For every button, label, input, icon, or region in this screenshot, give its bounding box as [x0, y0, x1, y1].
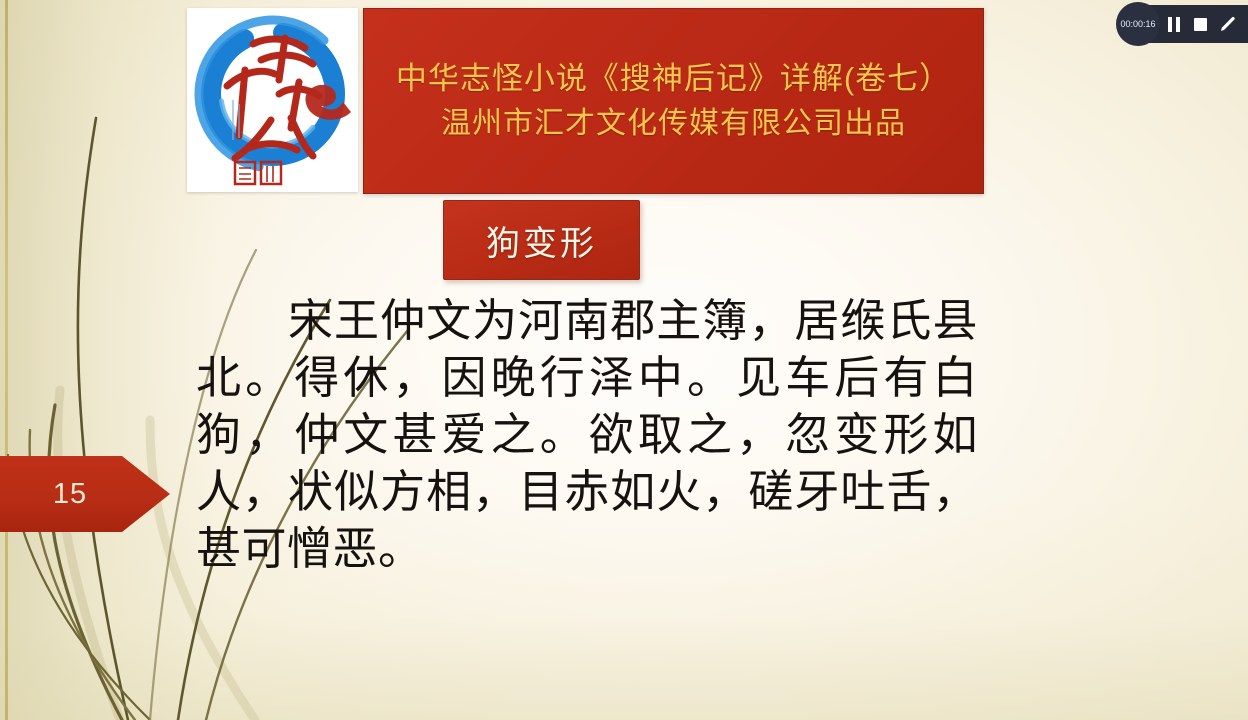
- presentation-slide: 中华志怪小说《搜神后记》详解(卷七） 温州市汇才文化传媒有限公司出品 狗变形 1…: [0, 0, 1248, 720]
- title-main: 中华志怪小说《搜神后记》详解(卷七）: [396, 60, 951, 99]
- page-number-banner: 15: [0, 456, 170, 532]
- pencil-icon[interactable]: [1220, 16, 1236, 32]
- section-subtitle-text: 狗变形: [486, 216, 597, 265]
- pause-icon[interactable]: [1168, 17, 1181, 32]
- section-subtitle-box: 狗变形: [443, 200, 640, 280]
- left-edge-rule: [5, 0, 8, 720]
- screen-recorder-widget[interactable]: 00:00:16: [1116, 0, 1248, 48]
- stop-icon[interactable]: [1194, 18, 1207, 31]
- recording-timer: 00:00:16: [1116, 2, 1160, 46]
- title-sub: 温州市汇才文化传媒有限公司出品: [441, 105, 906, 143]
- body-text: 宋王仲文为河南郡主簿，居缑氏县北。得休，因晚行泽中。见车后有白狗，仲文甚爱之。欲…: [196, 292, 978, 577]
- company-logo: [187, 8, 358, 192]
- title-banner: 中华志怪小说《搜神后记》详解(卷七） 温州市汇才文化传媒有限公司出品: [363, 8, 984, 194]
- page-number: 15: [53, 478, 117, 511]
